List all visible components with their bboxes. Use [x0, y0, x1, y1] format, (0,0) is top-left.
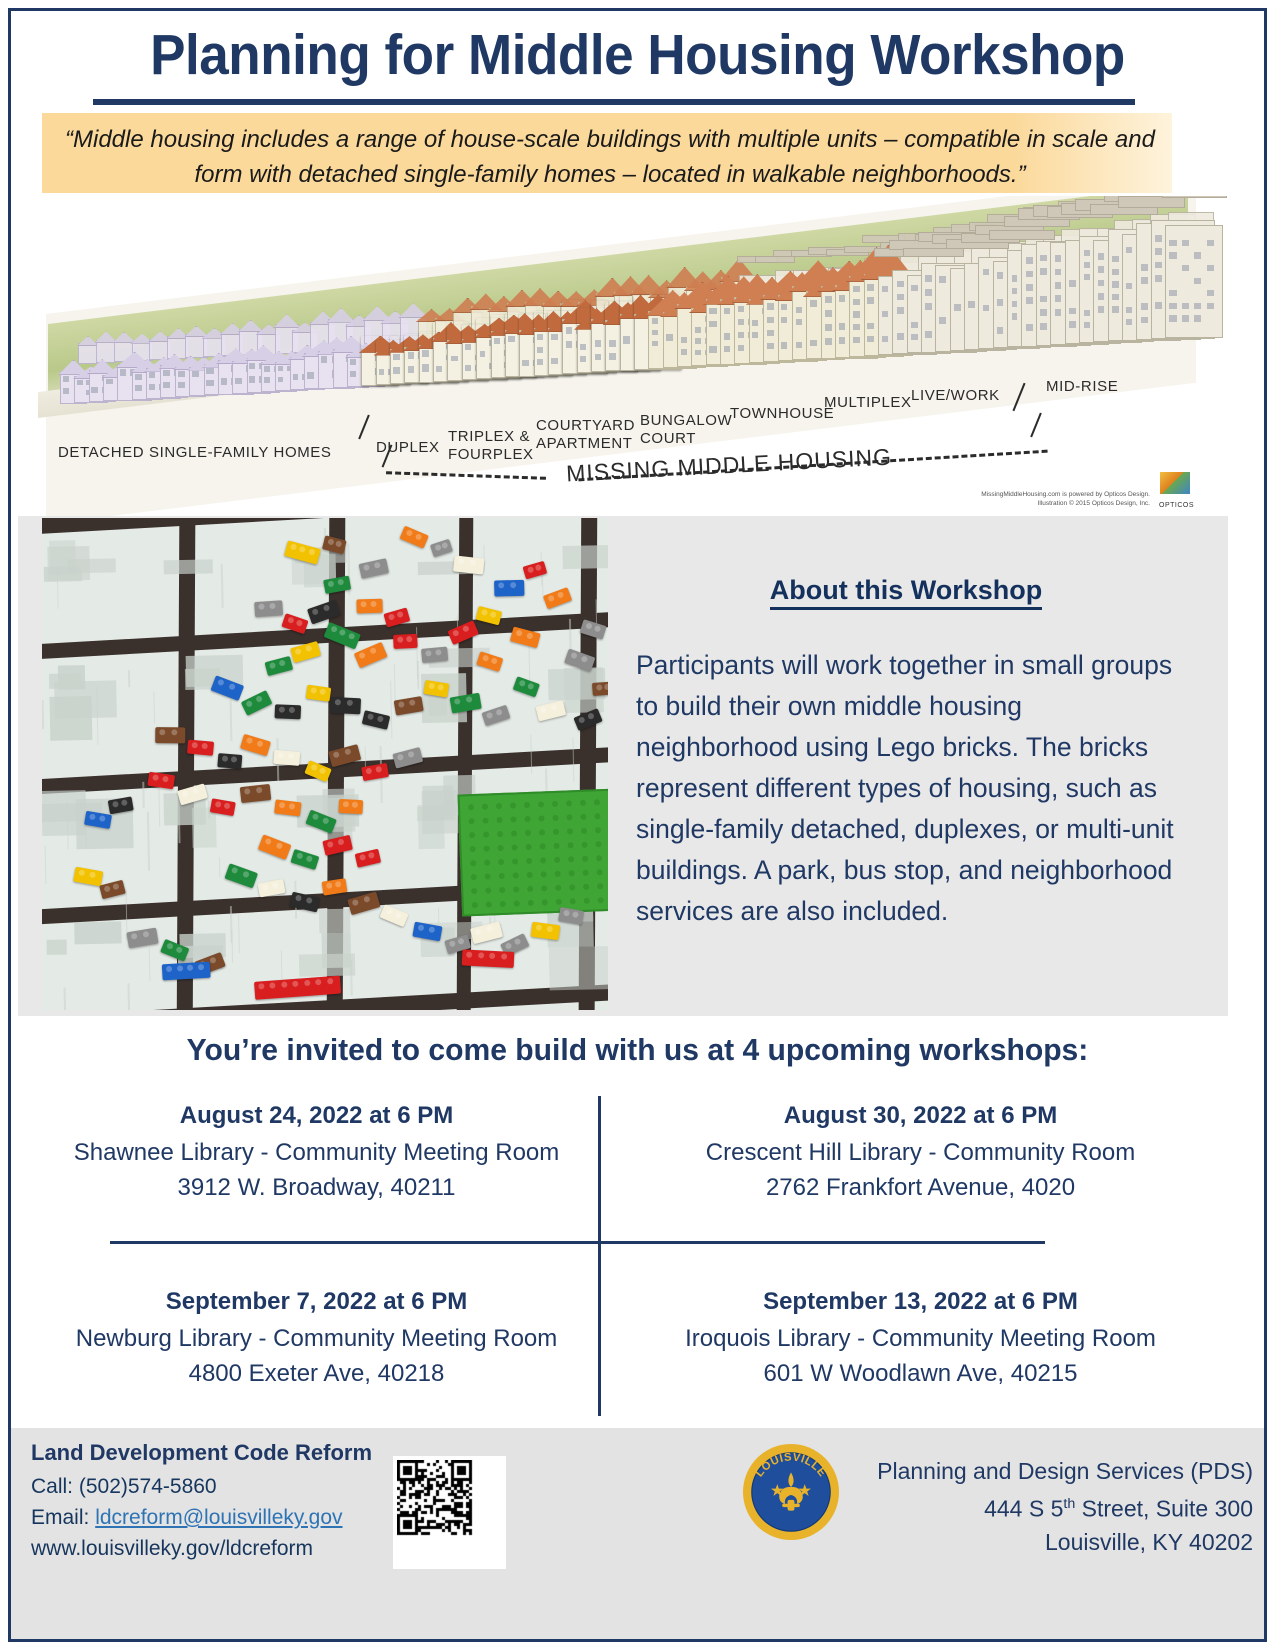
building-window	[796, 307, 803, 313]
baseplate-stud	[513, 886, 519, 892]
baseplate-stud	[538, 815, 544, 821]
session-card: August 30, 2022 at 6 PM Crescent Hill Li…	[648, 1102, 1193, 1205]
lego-brick	[356, 599, 382, 614]
qr-code[interactable]	[393, 1456, 506, 1569]
brick-stud	[397, 754, 404, 761]
building-window	[911, 285, 918, 291]
brick-stud	[269, 603, 275, 609]
building-window	[1207, 265, 1214, 271]
building-window	[235, 378, 241, 384]
brick-stud	[89, 813, 96, 820]
baseplate-stud	[484, 859, 490, 865]
building-window	[738, 332, 744, 338]
building-window	[853, 324, 860, 330]
brick-stud	[415, 533, 423, 541]
email-link[interactable]: ldcreform@louisvilleky.gov	[95, 1506, 342, 1529]
baseplate-stud	[594, 799, 600, 805]
brick-stud	[231, 756, 237, 762]
website-line: www.louisvilleky.gov/ldcreform	[31, 1533, 381, 1564]
building-window	[1055, 255, 1061, 262]
parcel-footprint	[74, 922, 122, 945]
title-underline	[93, 99, 1135, 105]
brick-stud	[315, 979, 321, 985]
brick-stud	[570, 652, 578, 660]
brick-stud	[162, 776, 169, 783]
brick-stud	[504, 942, 512, 950]
parcel-footprint	[549, 946, 608, 990]
building-window	[120, 369, 126, 376]
brick-stud	[322, 817, 330, 825]
building-window	[480, 351, 486, 357]
label-courtyard-apartment: COURTYARD APARTMENT	[536, 417, 636, 453]
brick-stud	[222, 755, 228, 761]
building-window	[163, 382, 170, 388]
building-window	[249, 376, 254, 383]
baseplate-stud	[581, 842, 587, 848]
brick-stud	[409, 699, 416, 706]
building-window	[897, 281, 904, 288]
building-window	[1026, 257, 1033, 264]
session-venue: Iroquois Library - Community Meeting Roo…	[648, 1321, 1193, 1356]
pds-street-ordinal: th	[1063, 1496, 1075, 1512]
opticos-mark	[1160, 472, 1190, 494]
brick-stud	[510, 582, 516, 588]
building-window	[781, 304, 787, 310]
brick-stud	[572, 911, 579, 918]
baseplate-stud	[470, 860, 476, 866]
building-window	[1182, 240, 1189, 246]
brick-stud	[192, 787, 199, 794]
building-window	[1084, 250, 1090, 256]
brick-stud	[278, 752, 285, 759]
brick-stud	[527, 682, 535, 690]
brick-stud	[181, 790, 188, 797]
label-duplex: DUPLEX	[376, 439, 440, 456]
baseplate-stud	[511, 830, 517, 836]
building-window	[839, 295, 845, 302]
building-window	[595, 354, 601, 361]
building-window	[465, 344, 471, 349]
session-date: September 13, 2022 at 6 PM	[648, 1288, 1193, 1316]
baseplate-stud	[582, 856, 588, 862]
session-address: 4800 Exeter Ave, 40218	[44, 1356, 589, 1391]
baseplate-stud	[583, 884, 589, 890]
brick-stud	[452, 629, 460, 637]
building-window	[695, 338, 701, 344]
brick-stud	[89, 871, 96, 878]
building-window	[1169, 315, 1176, 321]
email-line: Email: ldcreform@louisvilleky.gov	[31, 1502, 381, 1533]
brick-stud	[296, 852, 304, 860]
brick-stud	[407, 751, 414, 758]
building-window	[1112, 269, 1119, 275]
invite-headline: You’re invited to come build with us at …	[58, 1032, 1217, 1068]
brick-stud	[604, 684, 608, 690]
brick-stud	[428, 682, 435, 689]
brick-stud	[281, 981, 287, 987]
baseplate-stud	[567, 842, 573, 848]
session-address: 2762 Frankfort Avenue, 4020	[648, 1170, 1193, 1205]
brick-stud	[337, 579, 344, 586]
brick-stud	[159, 729, 165, 735]
building-window	[897, 333, 904, 340]
building-window	[1182, 315, 1189, 321]
baseplate-stud	[485, 887, 491, 893]
session-date: August 30, 2022 at 6 PM	[648, 1102, 1193, 1130]
building-window	[63, 376, 70, 382]
building-window	[997, 299, 1003, 306]
brick-stud	[347, 632, 355, 640]
brick-stud	[343, 801, 349, 807]
brick-stud	[104, 885, 111, 892]
brick-stud	[585, 622, 593, 630]
brick-stud	[526, 632, 533, 639]
building-window	[77, 380, 82, 385]
building-window	[738, 345, 744, 351]
baseplate-stud	[527, 886, 533, 892]
brick-stud	[513, 938, 521, 946]
brick-stud	[369, 647, 377, 655]
baseplate-stud	[512, 858, 518, 864]
lego-neighborhood-photo	[42, 518, 608, 1010]
brick-stud	[292, 981, 298, 987]
baseplate-stud	[483, 831, 489, 837]
brick-stud	[78, 869, 85, 876]
building-window	[321, 356, 327, 363]
building-window	[709, 346, 716, 352]
lego-brick	[330, 697, 361, 714]
building-window	[264, 366, 270, 372]
brick-stud	[246, 737, 253, 744]
building-window	[249, 363, 254, 370]
brick-stud	[264, 838, 272, 846]
building-window	[1194, 278, 1201, 284]
building-window	[221, 378, 227, 384]
building-window	[1026, 297, 1033, 304]
building-window	[1084, 262, 1090, 268]
building-window	[451, 356, 458, 361]
lego-brick	[393, 634, 418, 649]
brick-stud	[256, 787, 263, 794]
building-window	[695, 350, 701, 356]
baseplate-stud	[594, 813, 600, 819]
brick-stud	[466, 952, 472, 958]
brick-stud	[449, 940, 456, 947]
building-window	[724, 308, 730, 314]
building-window	[767, 330, 774, 337]
lego-brick	[462, 949, 515, 968]
baseplate-stud	[468, 804, 474, 810]
building-window	[178, 371, 186, 377]
brick-stud	[365, 768, 372, 775]
building-window	[63, 388, 70, 394]
baseplate-stud	[569, 884, 575, 890]
brick-stud	[269, 662, 276, 669]
building-window	[1012, 301, 1018, 307]
brick-stud	[289, 707, 295, 713]
brick-stud	[495, 709, 503, 717]
brick-stud	[319, 767, 327, 775]
brick-stud	[333, 751, 340, 758]
baseplate-stud	[510, 816, 516, 822]
brick-stud	[166, 942, 174, 950]
building-window	[897, 294, 904, 301]
brick-stud	[323, 604, 331, 612]
brick-stud	[370, 601, 376, 607]
brick-stud	[352, 899, 359, 906]
building-window	[652, 318, 658, 324]
brick-stud	[295, 894, 302, 901]
brick-stud	[256, 740, 263, 747]
brick-stud	[374, 562, 381, 569]
sessions-vertical-divider	[598, 1096, 601, 1416]
brick-stud	[540, 706, 547, 713]
brick-stud	[428, 926, 435, 933]
brick-stud	[272, 882, 279, 889]
brick-stud	[458, 558, 465, 565]
baseplate-stud	[597, 869, 603, 875]
brick-stud	[191, 742, 198, 749]
diagram-building	[1165, 196, 1223, 338]
building-window	[925, 275, 932, 282]
building-window	[925, 303, 932, 310]
building-window	[1155, 302, 1161, 309]
building-window	[939, 317, 945, 324]
label-multiplex: MULTIPLEX	[824, 394, 912, 411]
brick-stud	[131, 933, 138, 940]
diagram-credit: MissingMiddleHousing.com is powered by O…	[981, 490, 1150, 508]
baseplate-stud	[511, 844, 517, 850]
building-window	[666, 334, 673, 341]
building-window	[911, 322, 918, 328]
building-window	[1055, 295, 1061, 302]
building-window	[135, 385, 143, 391]
building-window	[1012, 313, 1018, 319]
building-window	[1040, 268, 1047, 275]
building-window	[1126, 319, 1132, 325]
baseplate-stud	[514, 900, 520, 906]
brick-stud	[486, 925, 493, 932]
parcel-footprint	[50, 541, 76, 575]
brick-stud	[457, 938, 464, 945]
building-window	[867, 336, 873, 342]
brick-stud	[547, 595, 555, 603]
building-window	[408, 352, 414, 359]
session-date: August 24, 2022 at 6 PM	[44, 1102, 589, 1130]
brick-stud	[339, 629, 347, 637]
building-window	[393, 367, 399, 374]
building-window	[264, 377, 270, 383]
building-window	[997, 327, 1003, 334]
brick-stud	[187, 965, 193, 971]
lego-brick	[162, 962, 211, 981]
building-window	[135, 374, 143, 380]
building-window	[839, 337, 845, 344]
brick-stud	[486, 712, 494, 720]
building-window	[1112, 306, 1119, 312]
session-card: September 7, 2022 at 6 PM Newburg Librar…	[44, 1288, 589, 1391]
building-window	[149, 384, 155, 390]
brick-stud	[347, 700, 353, 706]
baseplate-stud	[498, 845, 504, 851]
lego-brick	[187, 740, 214, 756]
brick-stud	[311, 608, 319, 616]
brick-stud	[327, 978, 333, 984]
brick-stud	[294, 648, 301, 655]
brick-stud	[217, 679, 225, 687]
building-window	[1026, 271, 1033, 278]
building-window	[623, 336, 630, 343]
building-window	[709, 321, 716, 327]
building-window	[767, 343, 774, 350]
building-window	[810, 340, 817, 347]
brick-stud	[481, 609, 488, 616]
building-window	[1040, 309, 1047, 316]
building-window	[724, 333, 730, 339]
building-window	[1182, 303, 1189, 309]
building-window	[825, 310, 832, 317]
label-live-work: LIVE/WORK	[911, 387, 1000, 404]
baseplate-stud	[528, 900, 534, 906]
building-window	[1040, 323, 1047, 330]
brick-stud	[305, 645, 312, 652]
quote-text: “Middle housing includes a range of hous…	[60, 122, 1160, 192]
building-window	[853, 337, 860, 343]
baseplate-stud	[541, 871, 547, 877]
park-baseplate	[458, 789, 608, 917]
brick-stud	[462, 625, 470, 633]
brick-stud	[594, 625, 602, 633]
building-window	[897, 307, 904, 314]
building-window	[566, 341, 572, 348]
building-window	[206, 368, 213, 374]
baseplate-stud	[555, 871, 561, 877]
session-card: August 24, 2022 at 6 PM Shawnee Library …	[44, 1102, 589, 1205]
building-window	[609, 340, 616, 347]
brick-stud	[335, 699, 341, 705]
building-window	[997, 272, 1003, 279]
brick-stud	[527, 566, 534, 573]
building-window	[752, 320, 758, 326]
session-venue: Crescent Hill Library - Community Room	[648, 1135, 1193, 1170]
brick-stud	[358, 652, 366, 660]
lego-brick	[240, 784, 272, 803]
brick-stud	[388, 613, 395, 620]
brick-stud	[335, 881, 342, 888]
baseplate-stud	[580, 814, 586, 820]
building-window	[278, 377, 283, 383]
lego-brick	[421, 647, 448, 663]
brick-stud	[375, 766, 382, 773]
building-window	[1155, 235, 1161, 242]
brick-stud	[535, 924, 542, 931]
building-window	[1126, 283, 1132, 289]
building-window	[1084, 310, 1090, 316]
baseplate-stud	[472, 902, 478, 908]
building-window	[350, 371, 356, 377]
baseplate-stud	[525, 830, 531, 836]
building-window	[882, 336, 888, 342]
building-window	[1026, 284, 1033, 291]
about-heading-text: About this Workshop	[770, 575, 1042, 610]
baseplate-stud	[469, 832, 475, 838]
baseplate-stud	[498, 859, 504, 865]
baseplate-stud	[595, 827, 601, 833]
building-window	[1069, 321, 1076, 328]
building-window	[839, 323, 845, 330]
brick-stud	[360, 601, 366, 607]
lego-photo-content	[42, 518, 608, 1010]
brick-stud	[352, 802, 358, 808]
baseplate-stud	[496, 817, 502, 823]
building-window	[1112, 294, 1119, 300]
building-window	[393, 354, 399, 361]
sessions-horizontal-divider	[110, 1241, 1045, 1244]
brick-stud	[299, 546, 306, 553]
brick-stud	[242, 871, 250, 879]
pds-street-number: 444 S 5	[984, 1496, 1063, 1522]
brick-stud	[255, 695, 263, 703]
brick-stud	[197, 964, 203, 970]
building-window	[1182, 265, 1189, 271]
brick-stud	[327, 580, 334, 587]
building-window	[1112, 281, 1119, 287]
pds-department: Planning and Design Services (PDS)	[833, 1455, 1253, 1488]
building-window	[1098, 306, 1104, 313]
brick-stud	[363, 896, 370, 903]
lego-brick	[275, 704, 302, 719]
lego-brick	[274, 799, 301, 816]
baseplate-stud	[482, 817, 488, 823]
building-window	[1155, 262, 1161, 269]
brick-stud	[279, 706, 285, 712]
baseplate-stud	[499, 873, 505, 879]
building-body	[1165, 225, 1223, 338]
building-window	[595, 340, 601, 347]
baseplate-stud	[552, 815, 558, 821]
brick-stud	[209, 956, 217, 964]
building-window	[436, 366, 442, 372]
brick-stud	[176, 965, 182, 971]
baseplate-stud	[524, 802, 530, 808]
building-window	[867, 284, 873, 290]
brick-stud	[470, 559, 477, 566]
building-window	[1084, 274, 1090, 280]
building-window	[1012, 288, 1018, 294]
about-paragraph: Participants will work together in small…	[636, 645, 1176, 932]
brick-stud	[308, 548, 315, 555]
baseplate-stud	[566, 814, 572, 820]
baseplate-stud	[496, 803, 502, 809]
brick-stud	[406, 636, 412, 642]
brick-stud	[152, 774, 159, 781]
building-window	[1126, 307, 1132, 313]
building-window	[1055, 282, 1061, 289]
session-card: September 13, 2022 at 6 PM Iroquois Libr…	[648, 1288, 1193, 1391]
brick-stud	[290, 543, 297, 550]
building-window	[652, 330, 658, 336]
brick-stud	[296, 619, 304, 627]
building-window	[1040, 255, 1047, 262]
building-window	[709, 308, 716, 314]
session-venue: Newburg Library - Community Meeting Room	[44, 1321, 589, 1356]
building-window	[1141, 317, 1148, 324]
brick-stud	[418, 924, 425, 931]
brick-stud	[563, 910, 570, 917]
building-window	[1169, 252, 1176, 258]
brick-stud	[279, 802, 286, 809]
brick-stud	[596, 684, 602, 690]
